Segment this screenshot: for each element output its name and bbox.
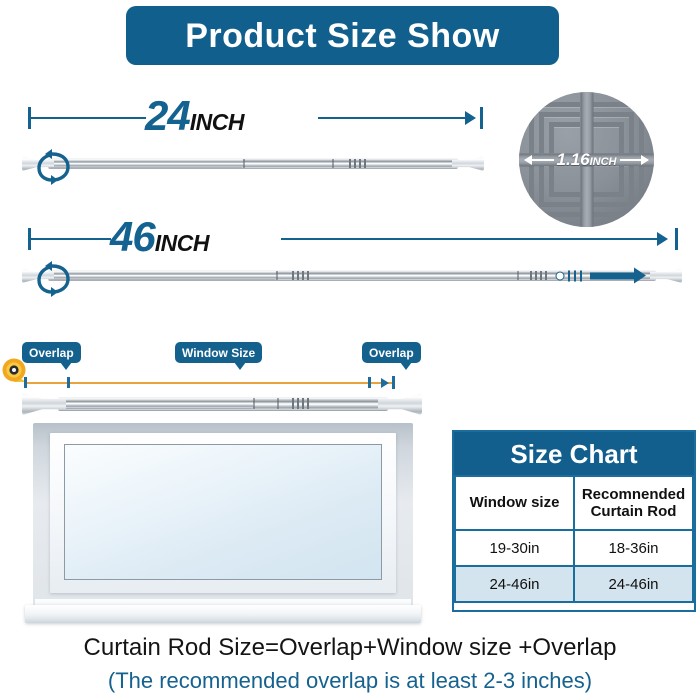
tape-tick-start — [24, 377, 27, 388]
rod-grip-rings-4 — [292, 398, 314, 409]
table-row: 24-46in 24-46in — [455, 566, 693, 602]
rod-tube-inner-2 — [48, 271, 276, 280]
measurement-tape-line — [24, 382, 394, 384]
groove-quadrant-br — [587, 160, 655, 228]
dimension-end-tick-right — [480, 107, 483, 129]
footer-note: (The recommended overlap is at least 2-3… — [0, 670, 700, 692]
callout-window-size: Window Size — [175, 342, 262, 363]
dimension-label-46inch: 46INCH — [110, 216, 209, 258]
rod-joint-line — [243, 159, 245, 168]
extend-arrow-icon — [590, 272, 635, 279]
rod-grip-rings-2 — [292, 271, 314, 280]
size-chart: Size Chart Window size Recomnended Curta… — [452, 430, 696, 612]
dimension-number: 24 — [145, 92, 190, 139]
diameter-number: 1.16 — [557, 150, 590, 169]
callout-overlap-right-label: Overlap — [369, 346, 414, 360]
dimension-end-tick-right-2 — [675, 228, 678, 250]
tape-tick-overlap-right — [368, 377, 371, 388]
rod-joint-line-6 — [277, 398, 279, 409]
dimension-unit: INCH — [190, 109, 244, 135]
footer-formula: Curtain Rod Size=Overlap+Window size +Ov… — [0, 636, 700, 660]
curtain-rod-retracted — [22, 156, 484, 171]
rod-diameter-callout: 1.16INCH — [519, 92, 654, 227]
diameter-arrow-right — [620, 159, 649, 161]
rotation-arrow-icon — [37, 146, 71, 188]
callout-overlap-right: Overlap — [362, 342, 421, 363]
size-chart-header-row: Window size Recomnended Curtain Rod — [455, 476, 693, 530]
column-header-window-size: Window size — [455, 476, 574, 530]
window-illustration — [33, 423, 413, 623]
dimension-arrowhead-right-2 — [657, 232, 668, 246]
rod-joint-line-2 — [332, 159, 334, 168]
diameter-dimension-row: 1.16INCH — [525, 151, 648, 169]
curtain-rod-installed — [22, 393, 422, 415]
dimension-line-24inch — [28, 107, 483, 129]
callout-overlap-left: Overlap — [22, 342, 81, 363]
tape-tick-overlap-left — [67, 377, 70, 388]
cell-rod-size: 24-46in — [574, 566, 693, 602]
tape-tick-end — [392, 376, 395, 389]
dimension-unit-2: INCH — [155, 230, 209, 256]
dimension-rule-right-2 — [281, 238, 659, 240]
dimension-number-2: 46 — [110, 213, 155, 260]
window-glass — [64, 444, 382, 580]
table-row: 19-30in 18-36in — [455, 530, 693, 566]
cell-window-size: 24-46in — [455, 566, 574, 602]
callout-window-size-label: Window Size — [182, 346, 255, 360]
window-sill — [25, 605, 421, 623]
curtain-rod-extended — [22, 268, 682, 283]
window-frame — [50, 433, 396, 593]
rod-joint-line-3 — [276, 271, 278, 280]
size-chart-table: Window size Recomnended Curtain Rod 19-3… — [454, 475, 694, 603]
rod-tube-inner-3 — [58, 398, 253, 409]
dimension-rule-right — [318, 117, 468, 119]
rod-grip-rings — [349, 159, 371, 168]
size-chart-header: Size Chart — [454, 432, 694, 475]
rotation-arrow-icon-2 — [37, 258, 71, 300]
diameter-unit: INCH — [590, 156, 617, 168]
column-header-recommended-rod: Recomnended Curtain Rod — [574, 476, 693, 530]
groove-quadrant-bl — [519, 160, 587, 228]
size-chart-title: Size Chart — [510, 441, 637, 467]
groove-quadrant-tr — [587, 92, 655, 160]
dimension-arrowhead-right — [465, 111, 476, 125]
cell-window-size: 19-30in — [455, 530, 574, 566]
diameter-label: 1.16INCH — [554, 151, 620, 169]
dimension-rule-left-2 — [31, 238, 111, 240]
rod-tube-inner — [48, 159, 243, 168]
callout-overlap-left-label: Overlap — [29, 346, 74, 360]
dimension-label-24inch: 24INCH — [145, 95, 244, 137]
page-title: Product Size Show — [185, 19, 500, 53]
dimension-rule-left — [31, 117, 146, 119]
extension-marker-dot — [556, 271, 565, 280]
infographic-canvas: Product Size Show 24INCH — [0, 0, 700, 700]
diameter-arrow-left — [525, 159, 554, 161]
tape-arrowhead-right — [381, 378, 389, 388]
rod-joint-line-5 — [253, 398, 255, 409]
rod-grip-rings-3 — [530, 271, 550, 280]
extension-marker-ticks — [568, 270, 590, 281]
page-title-banner: Product Size Show — [126, 6, 559, 65]
cell-rod-size: 18-36in — [574, 530, 693, 566]
rod-joint-line-4 — [517, 271, 519, 280]
